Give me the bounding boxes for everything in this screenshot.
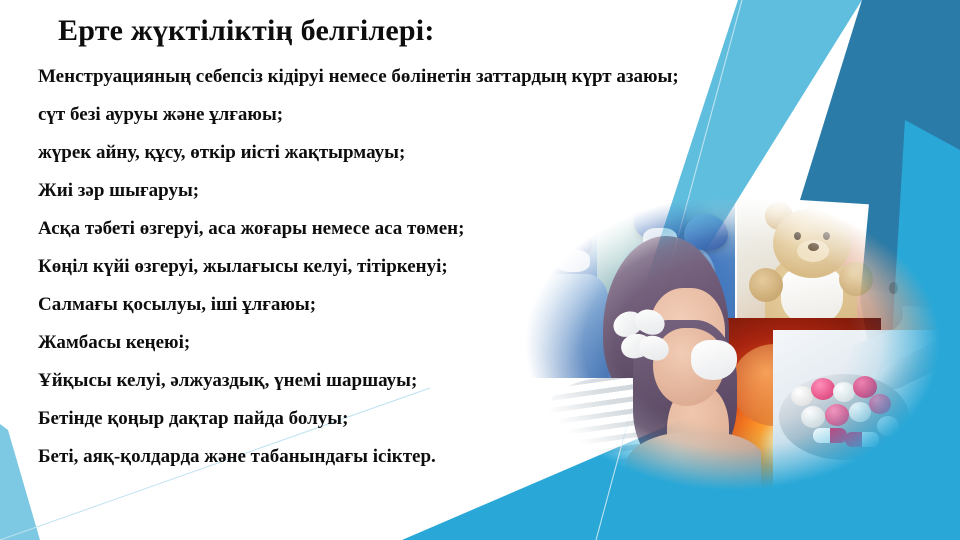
list-item: Көңіл күйі өзгеруі, жылағысы келуі, тіті… [38,248,838,286]
list-item: Асқа тәбеті өзгеруі, аса жоғары немесе а… [38,210,838,248]
list-item: Салмағы қосылуы, іші ұлғаюы; [38,286,838,324]
page-title: Ерте жүктіліктің белгілері: [58,14,435,48]
slide-canvas: Ерте жүктіліктің белгілері: Менструациян… [0,0,960,540]
list-item: Ұйқысы келуі, әлжуаздық, үнемі шаршауы; [38,362,838,400]
deco-bottom-left-wedge [0,424,40,540]
list-item: Жамбасы кеңеюі; [38,324,838,362]
list-item: Бетінде қоңыр дақтар пайда болуы; [38,400,838,438]
list-item: сүт безі ауруы және ұлғаюы; [38,96,838,134]
list-item: Беті, аяқ-қолдарда және табанындағы ісік… [38,438,838,476]
list-item: Менструацияның себепсіз кідіруі немесе б… [38,58,838,96]
symptom-list: Менструацияның себепсіз кідіруі немесе б… [38,58,838,476]
list-item: Жиі зәр шығаруы; [38,172,838,210]
list-item: жүрек айну, құсу, өткір иісті жақтырмауы… [38,134,838,172]
